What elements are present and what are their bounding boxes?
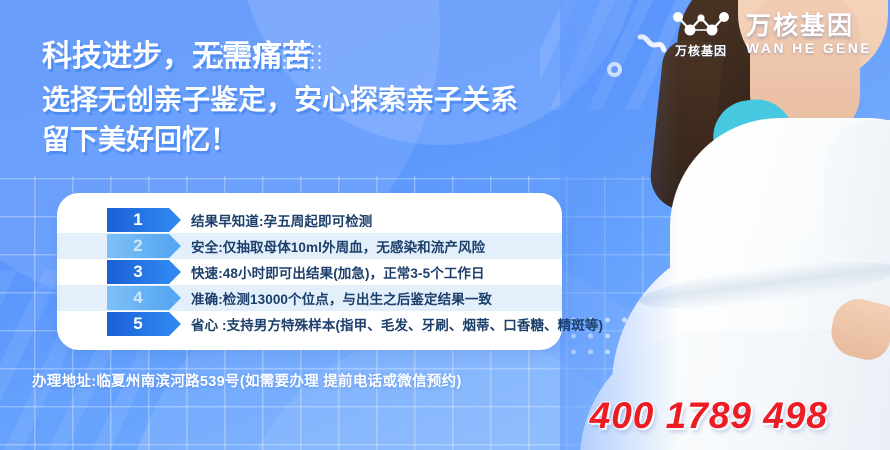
headline-line-2: 选择无创亲子鉴定，安心探索亲子关系 [42,86,518,114]
office-address: 办理地址:临夏州南滨河路539号(如需要办理 提前电话或微信预约) [32,370,462,391]
list-item: 3 快速:48小时即可出结果(加急)，正常3-5个工作日 [57,259,562,285]
feature-text: 结果早知道:孕五周起即可检测 [191,210,372,230]
feature-number-badge: 1 [107,208,169,232]
molecule-network-icon [670,10,732,40]
feature-text: 安全:仅抽取母体10ml外周血，无感染和流产风险 [191,236,485,256]
list-item: 5 省心 :支持男方特殊样本(指甲、毛发、牙刷、烟蒂、口香糖、精斑等) [57,311,562,337]
list-item: 2 安全:仅抽取母体10ml外周血，无感染和流产风险 [57,233,562,259]
phone-number[interactable]: 400 1789 498 [590,395,828,437]
logo-name-cn: 万核基因 [746,13,854,39]
photo-edge-blend [560,0,680,450]
feature-number-badge: 4 [107,286,169,310]
headline-block: 科技进步，无需痛苦 选择无创亲子鉴定，安心探索亲子关系 留下美好回忆！ [42,42,518,154]
brand-logo: 万核基因 万核基因 WAN HE GENE [670,10,872,59]
feature-number-badge: 5 [107,312,169,336]
logo-name-en: WAN HE GENE [746,40,872,56]
list-item: 4 准确:检测13000个位点，与出生之后鉴定结果一致 [57,285,562,311]
logo-wordmark: 万核基因 WAN HE GENE [746,13,872,55]
promo-banner: 万核基因 万核基因 WAN HE GENE 科技进步，无需痛苦 选择无创亲子鉴定… [0,0,890,450]
headline-line-1: 科技进步，无需痛苦 [42,42,518,72]
logo-mark-label: 万核基因 [675,42,727,59]
list-item: 1 结果早知道:孕五周起即可检测 [57,207,562,233]
feature-number-badge: 3 [107,260,169,284]
feature-list: 1 结果早知道:孕五周起即可检测 2 安全:仅抽取母体10ml外周血，无感染和流… [57,207,562,337]
headline-line-3: 留下美好回忆！ [42,126,518,154]
pregnant-woman-photo [560,0,890,450]
feature-text: 快速:48小时即可出结果(加急)，正常3-5个工作日 [191,262,485,282]
logo-mark: 万核基因 [670,10,732,59]
feature-text: 省心 :支持男方特殊样本(指甲、毛发、牙刷、烟蒂、口香糖、精斑等) [191,314,603,334]
feature-text: 准确:检测13000个位点，与出生之后鉴定结果一致 [191,288,492,308]
feature-card: 1 结果早知道:孕五周起即可检测 2 安全:仅抽取母体10ml外周血，无感染和流… [57,193,562,350]
feature-number-badge: 2 [107,234,169,258]
